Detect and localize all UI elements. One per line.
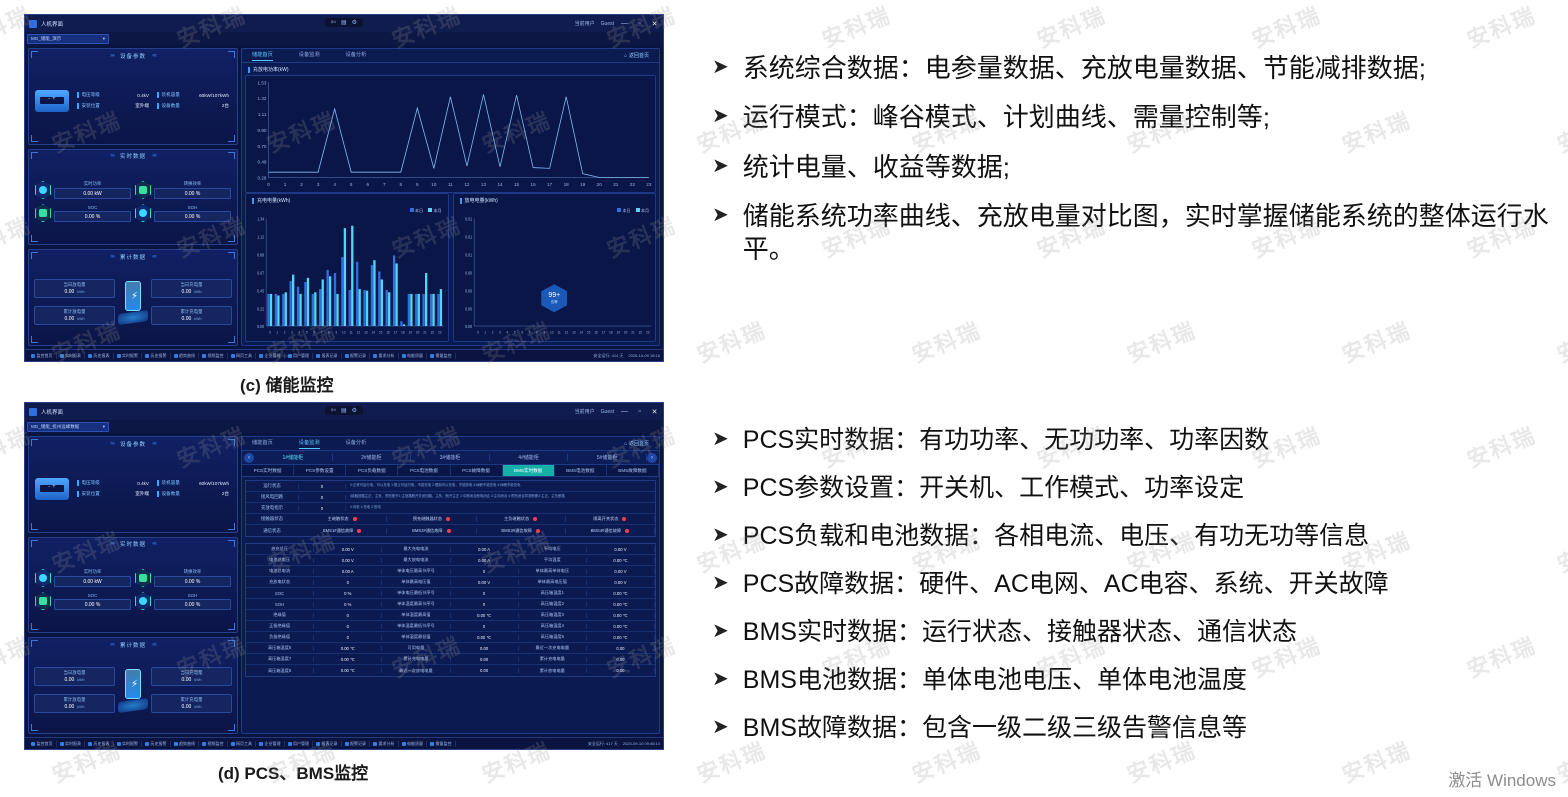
cell-value: 0.00 ℃ [313,668,382,673]
cell-value: 0.00 [450,668,519,673]
svg-text:7: 7 [383,182,386,187]
back-home-link[interactable]: ⌂返回首页 [624,52,649,59]
cell-label: 高压箱温度2 [519,601,586,607]
legend-item: 本日 [410,208,424,214]
statusbar-item-icon [430,354,434,358]
statusbar-item[interactable]: 报表记录 [313,353,342,359]
svg-text:22: 22 [431,330,434,334]
statusbar-item-icon [288,742,292,746]
svg-text:0.90: 0.90 [257,128,266,133]
svg-text:18: 18 [609,330,612,334]
cell-label: 单体最高单体电压 [519,568,586,574]
watermark-text: 安科瑞 [1247,0,1326,54]
bullet-text: BMS故障数据：包含一级二级三级告警信息等 [743,712,1568,744]
statusbar-item-label: 用户管理 [293,353,309,359]
statusbar-item[interactable]: 实时报表 [57,741,86,747]
table-row: 电池总电压0.00 V最大放电电流0.00 A平均温度0.00 ℃ [246,555,655,566]
statusbar-item-label: 实时报警 [122,741,138,747]
svg-text:16: 16 [594,330,597,334]
status-cell-label: BMS2#通信故障 [412,528,442,534]
corner-decor [31,235,38,242]
sub-tab[interactable]: PCS故障数据 [451,465,503,476]
statusbar-item[interactable]: 电能质量 [399,353,428,359]
titlebar-tool-icons[interactable]: ✄ ▤ ⚙ [325,406,363,415]
description-list-storage: ➤系统综合数据：电参量数据、充放电量数据、节能减排数据;➤运行模式：峰谷模式、计… [712,52,1568,282]
statusbar-item-label: 需量监控 [436,353,452,359]
station-select[interactable]: MG_储能_抚州远峰数据 ▾ [27,422,109,432]
chart-title-discharge: 放电电量(kWh) [454,194,656,206]
cell-value: 0.00 ℃ [586,613,655,618]
svg-text:5: 5 [513,330,515,334]
svg-text:1: 1 [284,182,287,187]
monitor-icon[interactable]: ▤ [341,407,347,414]
sub-tab[interactable]: PCS电池数据 [398,465,450,476]
status-led-icon [536,529,540,533]
statusbar-item[interactable]: 历史报警 [142,741,171,747]
cell-label: 单体电压最高节序号 [382,568,449,574]
device-tab[interactable]: 2#储能柜 [333,454,412,461]
watermark-text: 安科瑞 [692,313,771,370]
svg-text:16: 16 [386,330,389,334]
discharge-bar-chart-svg: 0.000.000.000.000.010.010.01012345678910… [454,206,656,341]
titlebar: 人机界面 ✄ ▤ ⚙ 当前用户 Guest — ▫ ✕ [25,15,663,32]
soh-battery-icon [135,592,151,610]
statusbar-item[interactable]: 历史报表 [85,353,114,359]
bullet-item: ➤BMS电池数据：单体电池电压、单体电池温度 [712,664,1568,696]
cell-value: 0.00 V [313,547,382,552]
status-cell: 主负继触状态 [477,516,566,522]
monitor-icon[interactable]: ▤ [341,19,347,26]
param-item: 装机容量60kW/107kWh [157,480,231,486]
svg-text:23: 23 [646,330,649,334]
status-cell-label: BMS1#通信故障 [323,528,353,534]
svg-text:0.00: 0.00 [465,270,473,276]
statusbar-item[interactable]: 实时报表 [57,353,86,359]
svg-text:17: 17 [547,182,553,187]
statusbar-item[interactable]: 实时报警 [114,353,143,359]
svg-text:8: 8 [536,330,538,334]
statusbar-item-label: 视频监控 [208,741,224,747]
bms-data-table: 放充总压0.00 V最大充电电流0.00 A平均电压0.00 V电池总电压0.0… [245,543,656,677]
current-user-label: 当前用户 [575,20,595,27]
sub-tab[interactable]: PCS实时数据 [242,465,294,476]
table-row: SOC0 %单体电压最低节序号0高压箱温度10.00 ℃ [246,588,655,599]
chart-title-text: 充放电功率(kW) [253,66,289,73]
cell-label: 最近一次放电电量 [382,668,449,674]
corner-decor [228,135,235,142]
statusbar-item-icon [60,354,64,358]
sub-tab[interactable]: BMS电池数据 [555,465,607,476]
cell-value: 0 [450,602,519,607]
svg-text:3: 3 [291,330,293,334]
statusbar-item[interactable]: 企业管理 [256,353,285,359]
svg-text:13: 13 [364,330,367,334]
bullet-item: ➤BMS实时数据：运行状态、接触器状态、通信状态 [712,616,1568,648]
svg-text:4: 4 [333,182,336,187]
soh-battery-icon [135,204,151,222]
tab-device-monitor[interactable]: 设备监测 [299,51,320,60]
soc-battery-icon [35,592,51,610]
statusbar-item[interactable]: 要求分析 [370,353,399,359]
corner-decor [228,51,235,58]
cell-label: 充放电状态 [246,579,313,585]
statusbar-item-icon [430,742,434,746]
cell-label: 单体温度最低节序号 [382,623,449,629]
svg-text:5: 5 [306,330,308,334]
table-row: 高压箱温度60.00 ℃可用电量0.00最近一次充电电量0.00 [246,643,655,654]
statusbar-item[interactable]: 网页工具 [228,741,257,747]
statusbar-item[interactable]: 监控首页 [28,353,57,359]
svg-text:23: 23 [438,330,441,334]
decor-right-icon: ‹‹‹‹ [152,53,156,59]
svg-text:7: 7 [528,330,530,334]
metric-power: 实时功率0.00 kW [35,181,131,200]
cell-value: 0.00 [586,668,655,673]
cumulative-item: 当日放电量0.00kWh [34,279,115,298]
status-cell: 主继触状态 [298,516,387,522]
cell-value: 0 % [313,602,382,607]
svg-text:1.12: 1.12 [257,234,265,240]
statusbar-item[interactable]: 视频监控 [199,741,228,747]
bullet-arrow-icon: ➤ [712,52,729,82]
status-cell-label: 预充继触器状态 [413,516,442,522]
svg-text:9: 9 [416,182,419,187]
status-cell-label: 主负继触状态 [504,516,529,522]
statusbar-info: 2025-10-09 18:16 [628,353,660,358]
svg-text:12: 12 [464,182,470,187]
bullet-text: PCS故障数据：硬件、AC电网、AC电容、系统、开关故障 [743,568,1568,600]
panel-realtime-data: ›››› 实时数据 ‹‹‹‹ 实时功率0.00 kW 转换效率0.00 % SO… [28,149,238,246]
power-line-chart-svg: 0.280.490.700.901.111.321.53012345678910… [246,76,655,192]
bullet-item: ➤PCS实时数据：有功功率、无功功率、功率因数 [712,424,1568,456]
statusbar-item[interactable]: 历史报表 [85,741,114,747]
decor-right-icon: ‹‹‹‹ [152,254,156,260]
statusbar-item-label: 趋势曲线 [179,741,195,747]
statusbar-item-icon [31,354,35,358]
statusbar-item[interactable]: 趋势曲线 [171,353,200,359]
statusbar-item-icon [117,742,121,746]
back-home-label: 返回首页 [629,52,649,59]
statusbar-item-label: 网页工具 [236,353,252,359]
tab-device-analysis[interactable]: 设备分析 [346,51,367,60]
svg-text:0.00: 0.00 [465,324,473,330]
param-item: 设备数量2台 [157,103,231,109]
legend-item: 本日 [617,208,631,214]
status-cell: 预充继触器状态 [387,516,476,522]
param-value: 60kW/107kWh [199,93,231,98]
svg-text:10: 10 [342,330,345,334]
statusbar-item-label: 报表记录 [322,353,338,359]
bullet-arrow-icon: ➤ [712,101,729,131]
sub-tab[interactable]: BMS故障数据 [607,465,659,476]
bullet-arrow-icon: ➤ [712,712,729,742]
svg-text:6: 6 [366,182,369,187]
chart-power-curve: 0.280.490.700.901.111.321.53012345678910… [245,75,656,193]
tab-storage-home[interactable]: 储能首页 [252,51,273,61]
bullet-text: PCS参数设置：开关机、工作模式、功率设定 [743,472,1568,504]
wrench-icon[interactable]: ✄ [331,407,336,414]
wrench-icon[interactable]: ✄ [331,19,336,26]
maximize-button[interactable]: ▫ [635,408,644,415]
table-row: 负极绝缘值0单体温度最低值0.00 ℃高压箱温度50.00 ℃ [246,632,655,643]
cell-label: 高压箱温度1 [519,590,586,596]
cell-label: 高压箱温度3 [519,612,586,618]
cumulative-item: 累计放电量0.00kWh [34,694,115,713]
device-tab[interactable]: 4#储能柜 [490,454,569,461]
chart-discharge-energy: 放电电量(kWh) 本日 本月 0.000.000.000.000.010.01… [453,193,657,342]
bullet-item: ➤系统综合数据：电参量数据、充放电量数据、节能减排数据; [712,52,1568,85]
statusbar-item-label: 需量监控 [436,741,452,747]
table-row: 放充总压0.00 V最大充电电流0.00 A平均电压0.00 V [246,544,655,555]
statusbar-right: 安全运行: 417 天2025-09-10 09:45:14 [588,741,660,747]
station-bar: MG_储能_演示 ▾ [25,32,663,45]
gear-icon[interactable]: ⚙ [352,19,357,26]
table-row: 绝缘值0单体温度最高值0.00 ℃高压箱温度30.00 ℃ [246,610,655,621]
svg-text:8: 8 [328,330,330,334]
cell-value: 0.00 V [586,580,655,585]
statusbar-item[interactable]: 历史报警 [142,353,171,359]
sub-tabs: PCS实时数据PCS参数设置PCS负载数据PCS电池数据PCS故障数据BMS实时… [242,465,659,477]
table-row: 正极绝缘值0单体温度最低节序号0高压箱温度40.00 ℃ [246,621,655,632]
statusbar-item-label: 趋势曲线 [179,353,195,359]
panel-header: ›››› 设备参数 ‹‹‹‹ [29,49,237,62]
bullet-text: 系统综合数据：电参量数据、充放电量数据、节能减排数据; [743,52,1568,85]
cell-value: 0.00 ℃ [586,635,655,640]
app-title: 人机界面 [41,20,63,28]
decor-left-icon: ›››› [110,153,114,159]
cell-value: 0.00 [586,657,655,662]
tab-storage-home[interactable]: 储能首页 [252,439,273,448]
svg-text:9: 9 [336,330,338,334]
statusbar-item-label: 历史报表 [94,353,110,359]
panel-title: 实时数据 [120,540,146,548]
device-tab[interactable]: 3#储能柜 [411,454,490,461]
svg-text:1.32: 1.32 [257,96,266,101]
statusbar-item-label: 视频监控 [208,353,224,359]
cell-label: 高压箱温度8 [246,668,313,674]
charge-bar-chart-svg: 0.000.220.450.670.891.121.34012345678910… [246,206,448,341]
status-bar: 监控首页实时报表历史报表实时报警历史报警趋势曲线视频监控网页工具企业管理用户管理… [25,349,663,361]
minimize-button[interactable]: — [620,20,629,27]
svg-text:17: 17 [394,330,397,334]
cell-value: 0.00 V [450,580,519,585]
table-row: 充放电状态0单体最高电压值0.00 V单体最高电压值0.00 V [246,577,655,588]
alarm-badge-label: 告警 [551,299,558,304]
metric-efficiency: 转换效率0.00 % [135,181,231,200]
sub-tab[interactable]: PCS负载数据 [346,465,398,476]
metric-label: 实时功率 [54,181,131,187]
cumulative-value: 0.00 [65,316,75,322]
statusbar-item[interactable]: 实时报警 [114,741,143,747]
watermark-text: 安科瑞 [907,313,986,370]
cell-label: 累计充电电量 [382,656,449,662]
sub-tab[interactable]: PCS参数设置 [294,465,346,476]
bms-status-table: 运行状态00:正常可运行电，可以充电 1:禁止可运行电，不能充电 2:限制可以充… [245,480,656,537]
svg-text:5: 5 [350,182,353,187]
app-logo-icon [29,20,37,28]
statusbar-item-icon [202,354,206,358]
statusbar-item[interactable]: 要求分析 [370,741,399,747]
decor-right-icon: ‹‹‹‹ [152,153,156,159]
svg-text:0.67: 0.67 [257,270,265,276]
power-icon [35,181,51,199]
home-icon: ⌂ [624,53,627,59]
statusbar-info: 安全运行: 414 天 [593,353,623,359]
carousel-prev-button[interactable]: ‹ [244,453,254,463]
minimize-button[interactable]: — [620,408,629,415]
svg-text:4: 4 [506,330,508,334]
panel-device-params: ››››设备参数‹‹‹‹ 电压等级0.4kV 装机容量60kW/107kWh 安… [28,436,238,533]
svg-text:22: 22 [630,182,636,187]
statusbar-item[interactable]: 电能质量 [399,741,428,747]
bullet-arrow-icon: ➤ [712,200,729,230]
table-row: 接风电回路0•接触回路主正、主负、预充断开1:主回路断开关闭回路、主负、断开主正… [246,492,655,503]
svg-text:1: 1 [484,330,486,334]
statusbar-item[interactable]: 监控首页 [28,741,57,747]
corner-decor [228,252,235,259]
status-cell: BMS2#通信故障 [387,528,476,534]
carousel-next-button[interactable]: › [647,453,657,463]
statusbar-item[interactable]: 需量监控 [427,353,456,359]
statusbar-item[interactable]: 报表记录 [313,741,342,747]
table-row: 接触器状态主继触状态预充继触器状态主负继触状态隔离开关状态 [246,514,655,525]
current-user-label: 当前用户 [575,408,595,415]
status-led-icon [533,517,537,521]
statusbar-item-icon [117,354,121,358]
tab-device-analysis[interactable]: 设备分析 [346,439,367,448]
svg-text:2: 2 [300,182,303,187]
cell-value: 0 [313,613,382,618]
status-cell-label: 隔离开关状态 [593,516,618,522]
svg-text:12: 12 [357,330,360,334]
svg-text:0: 0 [269,330,271,334]
cumulative-value: 0.00 [182,289,192,295]
maximize-button[interactable]: ▫ [635,20,644,27]
statusbar-item[interactable]: 用户管理 [285,741,314,747]
efficiency-icon [135,181,151,199]
statusbar-item-icon [259,742,263,746]
bullet-item: ➤统计电量、收益等数据; [712,151,1568,184]
cell-value: 0.00 A [450,558,519,563]
corner-decor [31,152,38,159]
statusbar-item-label: 历史报警 [151,353,167,359]
cell-value: 0 [313,635,382,640]
bullet-item: ➤PCS参数设置：开关机、工作模式、功率设定 [712,472,1568,504]
table-row: 充放电指示00:待机 1:充电 2:放电 [246,503,655,514]
statusbar-item-label: 实时报表 [65,353,81,359]
back-home-link[interactable]: ⌂返回首页 [624,440,649,447]
cumulative-item: 累计充电量0.00kWh [151,306,232,325]
row-note: 0:正常可运行电，可以充电 1:禁止可运行电，不能充电 2:限制可以充电，不能放… [346,483,655,488]
statusbar-item[interactable]: 用户管理 [285,353,314,359]
panel-title: 实时数据 [120,152,146,160]
close-button[interactable]: ✕ [650,408,659,416]
statusbar-item[interactable]: 报警记录 [342,353,371,359]
statusbar-item[interactable]: 网页工具 [228,353,257,359]
metric-value: 0.00 % [54,211,131,222]
station-select[interactable]: MG_储能_演示 ▾ [27,34,109,44]
statusbar-item-label: 报表记录 [322,741,338,747]
cell-label: 最大充电电流 [382,546,449,552]
svg-text:16: 16 [531,182,537,187]
table-row: 电池总电流0.00 A单体电压最高节序号0单体最高单体电压0.00 V [246,566,655,577]
caption-d: (d) PCS、BMS监控 [218,759,368,784]
chart-title-charge: 充电电量(kWh) [246,194,448,206]
param-item: 安装位置室外端 [77,491,151,497]
watermark-text: 安科瑞 [1032,0,1111,54]
table-row: 通信状态BMS1#通信故障BMS2#通信故障BMS3#通信故障BMS4#通信故障 [246,525,655,536]
metric-power: 实时功率0.00 kW [35,569,131,588]
panel-title: 设备参数 [120,440,146,448]
svg-text:1.11: 1.11 [258,112,267,117]
cell-label: 单体温度最低值 [382,634,449,640]
decor-left-icon: ›››› [110,53,114,59]
status-led-icon [357,529,361,533]
station-select-value: MG_储能_演示 [31,36,61,42]
gear-icon[interactable]: ⚙ [352,407,357,414]
cumulative-unit: kWh [77,317,84,321]
main-tabs: 储能首页 设备监测 设备分析 ⌂返回首页 [242,49,659,63]
statusbar-item[interactable]: 需量监控 [427,741,456,747]
svg-text:18: 18 [564,182,570,187]
statusbar-item-icon [345,742,349,746]
alarm-badge-count: 99+ [548,292,560,299]
current-user-name: Guest [601,409,614,415]
svg-text:15: 15 [379,330,382,334]
statusbar-item-icon [31,742,35,746]
svg-text:1.34: 1.34 [257,216,265,222]
statusbar-item-label: 历史报表 [94,741,110,747]
corner-decor [31,252,38,259]
chart-title-text: 放电电量(kWh) [465,197,498,204]
statusbar-item-icon [202,742,206,746]
device-tab[interactable]: 5#储能柜 [568,454,647,461]
statusbar-item[interactable]: 趋势曲线 [171,741,200,747]
close-button[interactable]: ✕ [650,20,659,28]
cell-label: 电池总电流 [246,568,313,574]
battery-3d-icon: ⚡ [118,279,148,325]
corner-decor [228,336,235,343]
statusbar-item-label: 电能质量 [407,353,423,359]
param-item: 电压等级0.4kV [77,480,151,486]
corner-decor [31,51,38,58]
statusbar-info: 安全运行: 417 天 [588,741,618,747]
sub-tab[interactable]: BMS实时数据 [503,465,555,476]
cell-label: 最大放电电流 [382,557,449,563]
cell-value: 0.00 ℃ [586,591,655,596]
tab-device-monitor[interactable]: 设备监测 [299,439,320,449]
status-led-icon [446,517,450,521]
statusbar-item[interactable]: 企业管理 [256,741,285,747]
titlebar-tool-icons[interactable]: ✄ ▤ ⚙ [325,18,363,27]
cell-label: 负极绝缘值 [246,634,313,640]
cumulative-item: 当日充电量0.00kWh [151,279,232,298]
metric-soh: SOH0.00 % [135,592,231,610]
param-label: 安装位置 [82,103,100,109]
status-cell: 隔离开关状态 [566,516,655,522]
statusbar-item-icon [174,742,178,746]
param-value: 0.4kV [137,93,151,98]
statusbar-item[interactable]: 报警记录 [342,741,371,747]
device-tab[interactable]: 1#储能柜 [254,454,333,461]
cumulative-unit: kWh [77,290,84,294]
param-value: 室外端 [135,103,151,109]
battery-icon [35,478,69,500]
statusbar-item[interactable]: 视频监控 [199,353,228,359]
statusbar-item-icon [373,742,377,746]
param-label: 电压等级 [82,92,100,98]
cell-label: 单体电压最低节序号 [382,590,449,596]
